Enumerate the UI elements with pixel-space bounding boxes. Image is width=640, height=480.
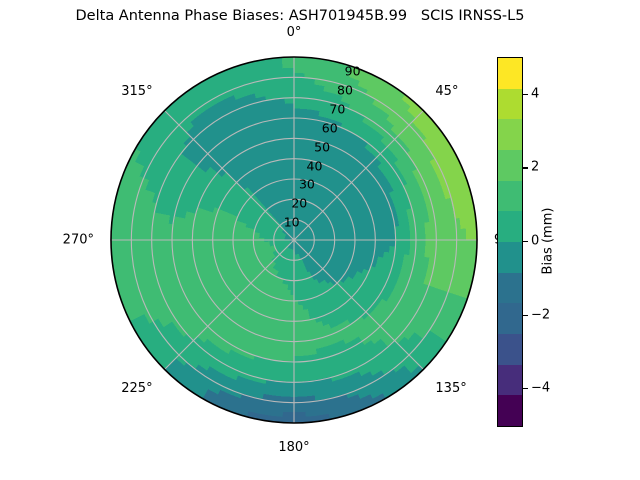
radial-tick-label: 60 [322, 120, 338, 135]
radial-tick-label: 70 [329, 102, 345, 117]
angular-tick-label: 0° [287, 25, 302, 40]
angular-tick-label: 45° [435, 84, 458, 99]
angular-gridlines [111, 57, 477, 423]
colorbar-tick-mark [523, 167, 528, 168]
angular-tick-label: 315° [121, 84, 152, 99]
figure-canvas: Delta Antenna Phase Biases: ASH701945B.9… [0, 0, 640, 480]
colorbar-tick-label: 4 [531, 86, 539, 101]
radial-tick-label: 40 [307, 158, 323, 173]
colorbar-tick-mark [523, 388, 528, 389]
angular-tick-label: 180° [278, 440, 309, 455]
radial-tick-label: 20 [291, 196, 307, 211]
colorbar-tick-label: 2 [531, 160, 539, 175]
colorbar-tick-mark [523, 315, 528, 316]
page-title: Delta Antenna Phase Biases: ASH701945B.9… [0, 8, 600, 24]
colorbar-tick-label: −2 [531, 307, 550, 322]
radial-tick-label: 80 [337, 83, 353, 98]
radial-tick-label: 10 [284, 215, 300, 230]
radial-tick-label: 90 [345, 64, 361, 79]
radial-tick-label: 30 [299, 177, 315, 192]
angular-tick-label: 135° [435, 381, 466, 396]
angular-tick-label: 225° [121, 381, 152, 396]
radial-tick-label: 50 [314, 139, 330, 154]
polar-contour-svg [110, 56, 478, 424]
colorbar-tick-label: 0 [531, 234, 539, 249]
colorbar-axis-label: Bias (mm) [541, 208, 556, 275]
polar-plot[interactable]: 0°45°90135°180°225°270°315° 102030405060… [110, 56, 478, 424]
colorbar-tick-label: −4 [531, 381, 550, 396]
colorbar-tick-mark [523, 241, 528, 242]
angular-tick-label: 270° [63, 233, 94, 248]
colorbar-tick-mark [523, 94, 528, 95]
